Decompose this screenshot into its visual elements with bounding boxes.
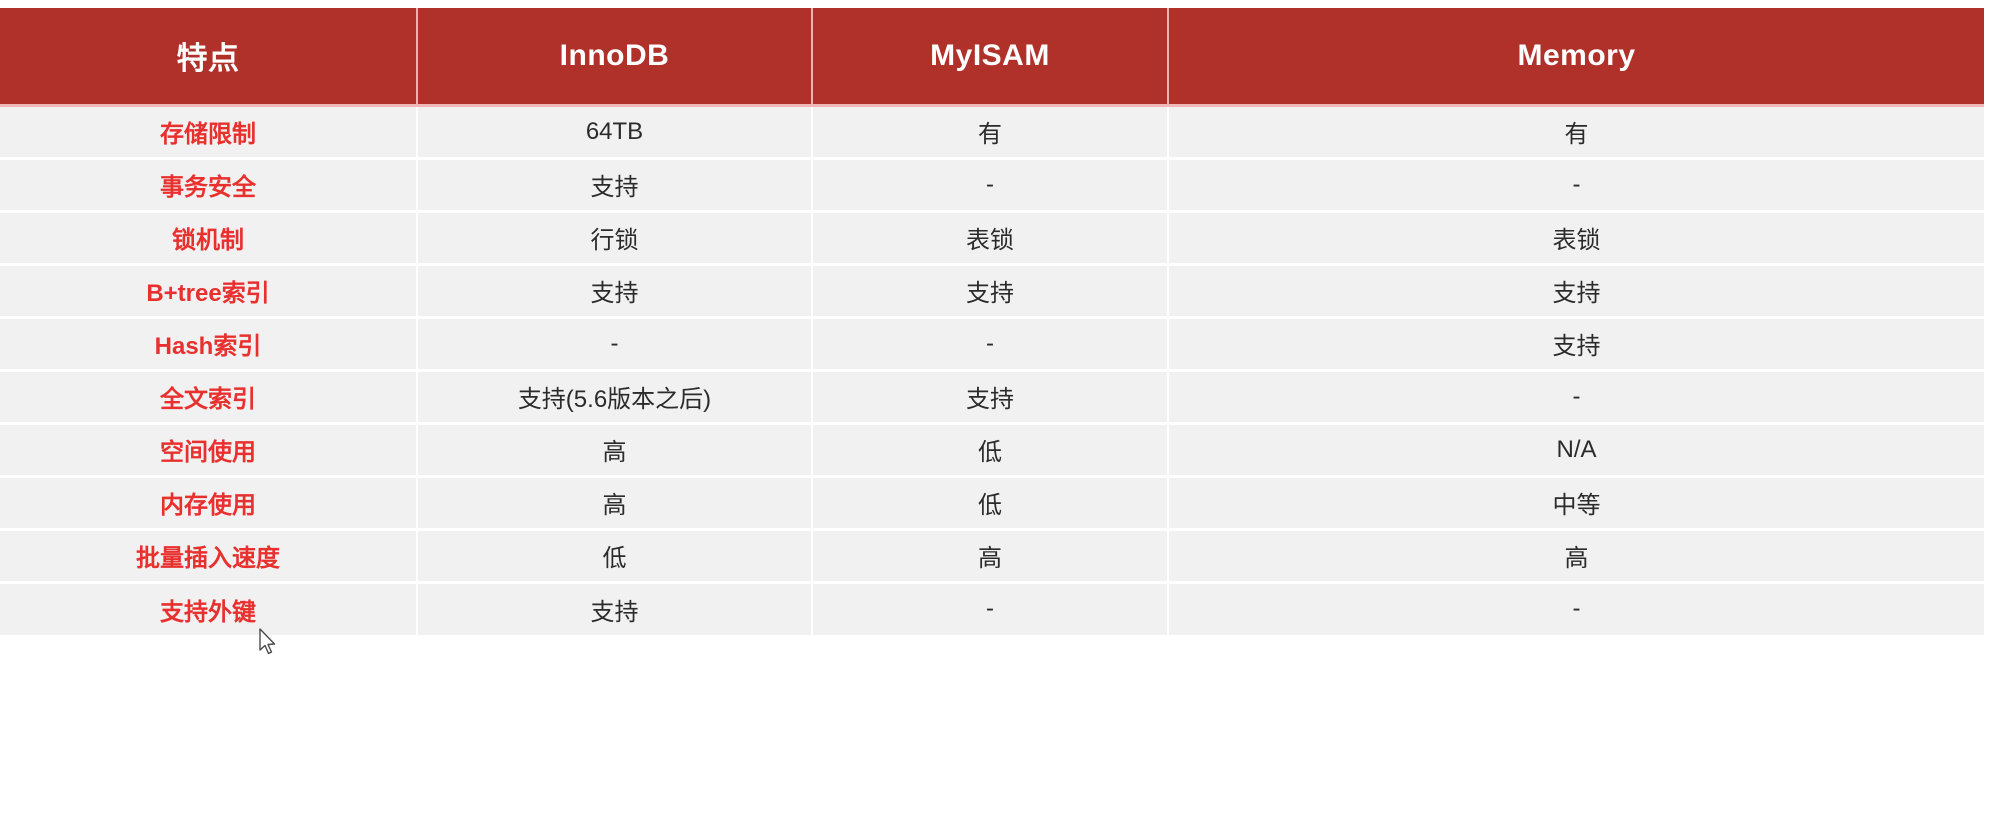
cell-innodb: 支持 bbox=[417, 158, 812, 211]
cell-myisam: 有 bbox=[812, 105, 1168, 158]
cell-feature: 全文索引 bbox=[0, 370, 417, 423]
cell-feature: B+tree索引 bbox=[0, 264, 417, 317]
table-row: Hash索引 - - 支持 bbox=[0, 317, 1984, 370]
table-row: 锁机制 行锁 表锁 表锁 bbox=[0, 211, 1984, 264]
cell-memory: 高 bbox=[1168, 529, 1984, 582]
cell-innodb: 高 bbox=[417, 476, 812, 529]
table-row: 支持外键 支持 - - bbox=[0, 582, 1984, 635]
cell-memory: 表锁 bbox=[1168, 211, 1984, 264]
cell-memory: - bbox=[1168, 370, 1984, 423]
storage-engine-comparison-table: 特点 InnoDB MyISAM Memory 存储限制 64TB 有 有 事务… bbox=[0, 8, 1984, 635]
column-header-memory[interactable]: Memory bbox=[1168, 8, 1984, 105]
table-header-row: 特点 InnoDB MyISAM Memory bbox=[0, 8, 1984, 105]
table-header: 特点 InnoDB MyISAM Memory bbox=[0, 8, 1984, 105]
cell-feature: 批量插入速度 bbox=[0, 529, 417, 582]
cell-memory: 支持 bbox=[1168, 317, 1984, 370]
cell-innodb: 支持(5.6版本之后) bbox=[417, 370, 812, 423]
cell-memory: 有 bbox=[1168, 105, 1984, 158]
cell-memory: 中等 bbox=[1168, 476, 1984, 529]
cell-innodb: 支持 bbox=[417, 264, 812, 317]
cell-feature: 支持外键 bbox=[0, 582, 417, 635]
cell-innodb: - bbox=[417, 317, 812, 370]
cell-feature: 事务安全 bbox=[0, 158, 417, 211]
cell-innodb: 低 bbox=[417, 529, 812, 582]
table-body: 存储限制 64TB 有 有 事务安全 支持 - - 锁机制 行锁 表锁 表锁 B… bbox=[0, 105, 1984, 635]
cell-memory: 支持 bbox=[1168, 264, 1984, 317]
cell-feature: 存储限制 bbox=[0, 105, 417, 158]
cell-feature: 锁机制 bbox=[0, 211, 417, 264]
column-header-myisam[interactable]: MyISAM bbox=[812, 8, 1168, 105]
cell-myisam: - bbox=[812, 158, 1168, 211]
cell-innodb: 支持 bbox=[417, 582, 812, 635]
cell-innodb: 64TB bbox=[417, 105, 812, 158]
cell-myisam: 低 bbox=[812, 476, 1168, 529]
table-row: 空间使用 高 低 N/A bbox=[0, 423, 1984, 476]
cell-innodb: 高 bbox=[417, 423, 812, 476]
cell-memory: - bbox=[1168, 582, 1984, 635]
table-row: 批量插入速度 低 高 高 bbox=[0, 529, 1984, 582]
cell-myisam: 支持 bbox=[812, 370, 1168, 423]
cell-memory: N/A bbox=[1168, 423, 1984, 476]
table-row: B+tree索引 支持 支持 支持 bbox=[0, 264, 1984, 317]
cell-myisam: 低 bbox=[812, 423, 1168, 476]
cell-myisam: 表锁 bbox=[812, 211, 1168, 264]
cell-innodb: 行锁 bbox=[417, 211, 812, 264]
column-header-feature[interactable]: 特点 bbox=[0, 8, 417, 105]
page-root: 特点 InnoDB MyISAM Memory 存储限制 64TB 有 有 事务… bbox=[0, 0, 2006, 827]
table-row: 事务安全 支持 - - bbox=[0, 158, 1984, 211]
table-row: 全文索引 支持(5.6版本之后) 支持 - bbox=[0, 370, 1984, 423]
cell-myisam: - bbox=[812, 582, 1168, 635]
cell-myisam: 高 bbox=[812, 529, 1168, 582]
cell-memory: - bbox=[1168, 158, 1984, 211]
table-row: 存储限制 64TB 有 有 bbox=[0, 105, 1984, 158]
cell-feature: 内存使用 bbox=[0, 476, 417, 529]
column-header-innodb[interactable]: InnoDB bbox=[417, 8, 812, 105]
cell-feature: Hash索引 bbox=[0, 317, 417, 370]
table-row: 内存使用 高 低 中等 bbox=[0, 476, 1984, 529]
cell-myisam: 支持 bbox=[812, 264, 1168, 317]
cell-myisam: - bbox=[812, 317, 1168, 370]
cell-feature: 空间使用 bbox=[0, 423, 417, 476]
